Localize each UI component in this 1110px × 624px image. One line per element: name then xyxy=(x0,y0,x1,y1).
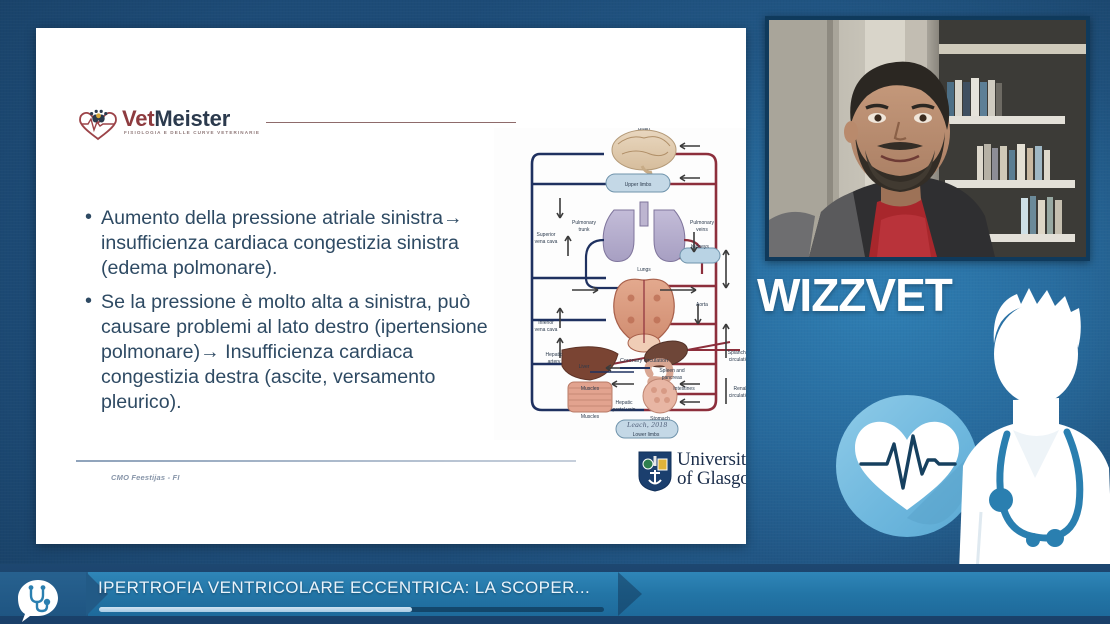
veterinarian-silhouette-icon xyxy=(955,282,1110,572)
logo-divider-rule xyxy=(266,122,516,123)
svg-text:Brain: Brain xyxy=(638,128,650,132)
heart-pawprint-icon xyxy=(76,106,120,142)
stethoscope-speech-bubble-icon[interactable] xyxy=(16,578,60,622)
svg-text:Pulmonary: Pulmonary xyxy=(572,220,596,226)
bullet-item: Aumento della pressione atriale sinistra… xyxy=(84,206,504,281)
logo-word-meister: Meister xyxy=(154,106,230,131)
svg-text:circulation: circulation xyxy=(729,393,746,399)
systemic-circulation-diagram: Brain Upper limbs Lungs Coronary circula… xyxy=(494,128,746,440)
svg-text:Muscles: Muscles xyxy=(581,414,600,420)
university-of-glasgow-logo: University of Glasgow xyxy=(637,448,746,496)
presentation-slide[interactable]: VetMeister FISIOLOGIA E DELLE CURVE VETE… xyxy=(36,28,746,544)
svg-text:trunk: trunk xyxy=(578,227,590,233)
svg-text:Pulmonary: Pulmonary xyxy=(690,220,714,226)
svg-text:vena cava: vena cava xyxy=(535,239,558,245)
progress-bar-fill xyxy=(99,607,412,612)
vetmeister-wordmark: VetMeister xyxy=(122,106,230,132)
logo-tagline: FISIOLOGIA E DELLE CURVE VETERINARIE xyxy=(124,130,260,135)
svg-text:Inferior: Inferior xyxy=(538,320,554,326)
svg-text:Superior: Superior xyxy=(537,232,556,238)
banner-chevron-right xyxy=(618,572,642,616)
svg-text:Intestines: Intestines xyxy=(673,386,695,392)
player-bottom-banner: IPERTROFIA VENTRICOLARE ECCENTRICA: LA S… xyxy=(0,564,1110,624)
slide-footnote: CMO Feestijas - FI xyxy=(111,473,180,482)
svg-text:Liver: Liver xyxy=(579,364,590,370)
svg-text:Spleen and: Spleen and xyxy=(659,368,685,374)
slide-footer-divider xyxy=(76,460,576,462)
glasgow-crest-icon xyxy=(637,450,673,492)
svg-text:Muscles: Muscles xyxy=(581,386,600,392)
glasgow-wordmark: University of Glasgow xyxy=(677,450,746,488)
svg-text:artery: artery xyxy=(548,359,561,365)
svg-text:portal vein: portal vein xyxy=(612,407,635,413)
lecture-title: IPERTROFIA VENTRICOLARE ECCENTRICA: LA S… xyxy=(98,578,590,598)
presenter-webcam[interactable] xyxy=(769,20,1086,257)
glasgow-line2: of Glasgow xyxy=(677,469,746,488)
svg-text:Coronary circulation: Coronary circulation xyxy=(620,358,668,364)
bullet-item: Se la pressione è molto alta a sinistra,… xyxy=(84,290,504,415)
slide-bullet-list: Aumento della pressione atriale sinistra… xyxy=(84,206,504,424)
svg-text:pancreas: pancreas xyxy=(662,375,683,381)
diagram-citation: Leach, 2018 xyxy=(627,420,667,429)
presenter-webcam-frame[interactable] xyxy=(765,16,1090,261)
svg-text:Hepatic: Hepatic xyxy=(546,352,563,358)
svg-text:Renal: Renal xyxy=(733,386,746,392)
svg-text:Upper limbs: Upper limbs xyxy=(625,182,652,188)
svg-text:veins: veins xyxy=(696,227,708,233)
svg-text:circulation: circulation xyxy=(729,357,746,363)
vetmeister-logo: VetMeister FISIOLOGIA E DELLE CURVE VETE… xyxy=(76,102,521,148)
wizzvet-brand-title: WIZZVET xyxy=(757,268,952,322)
svg-text:Kidneys: Kidneys xyxy=(691,244,709,250)
progress-bar-track[interactable] xyxy=(99,607,604,612)
svg-text:Hepatic: Hepatic xyxy=(616,400,633,406)
svg-text:Lower limbs: Lower limbs xyxy=(633,432,660,438)
svg-text:Aorta: Aorta xyxy=(696,302,708,308)
svg-text:vena cava: vena cava xyxy=(535,327,558,333)
logo-word-vet: Vet xyxy=(122,106,154,131)
svg-text:Splanchnic: Splanchnic xyxy=(728,350,746,356)
stomach-organ xyxy=(643,379,677,413)
svg-text:Lungs: Lungs xyxy=(637,267,651,273)
glasgow-line1: University xyxy=(677,450,746,469)
